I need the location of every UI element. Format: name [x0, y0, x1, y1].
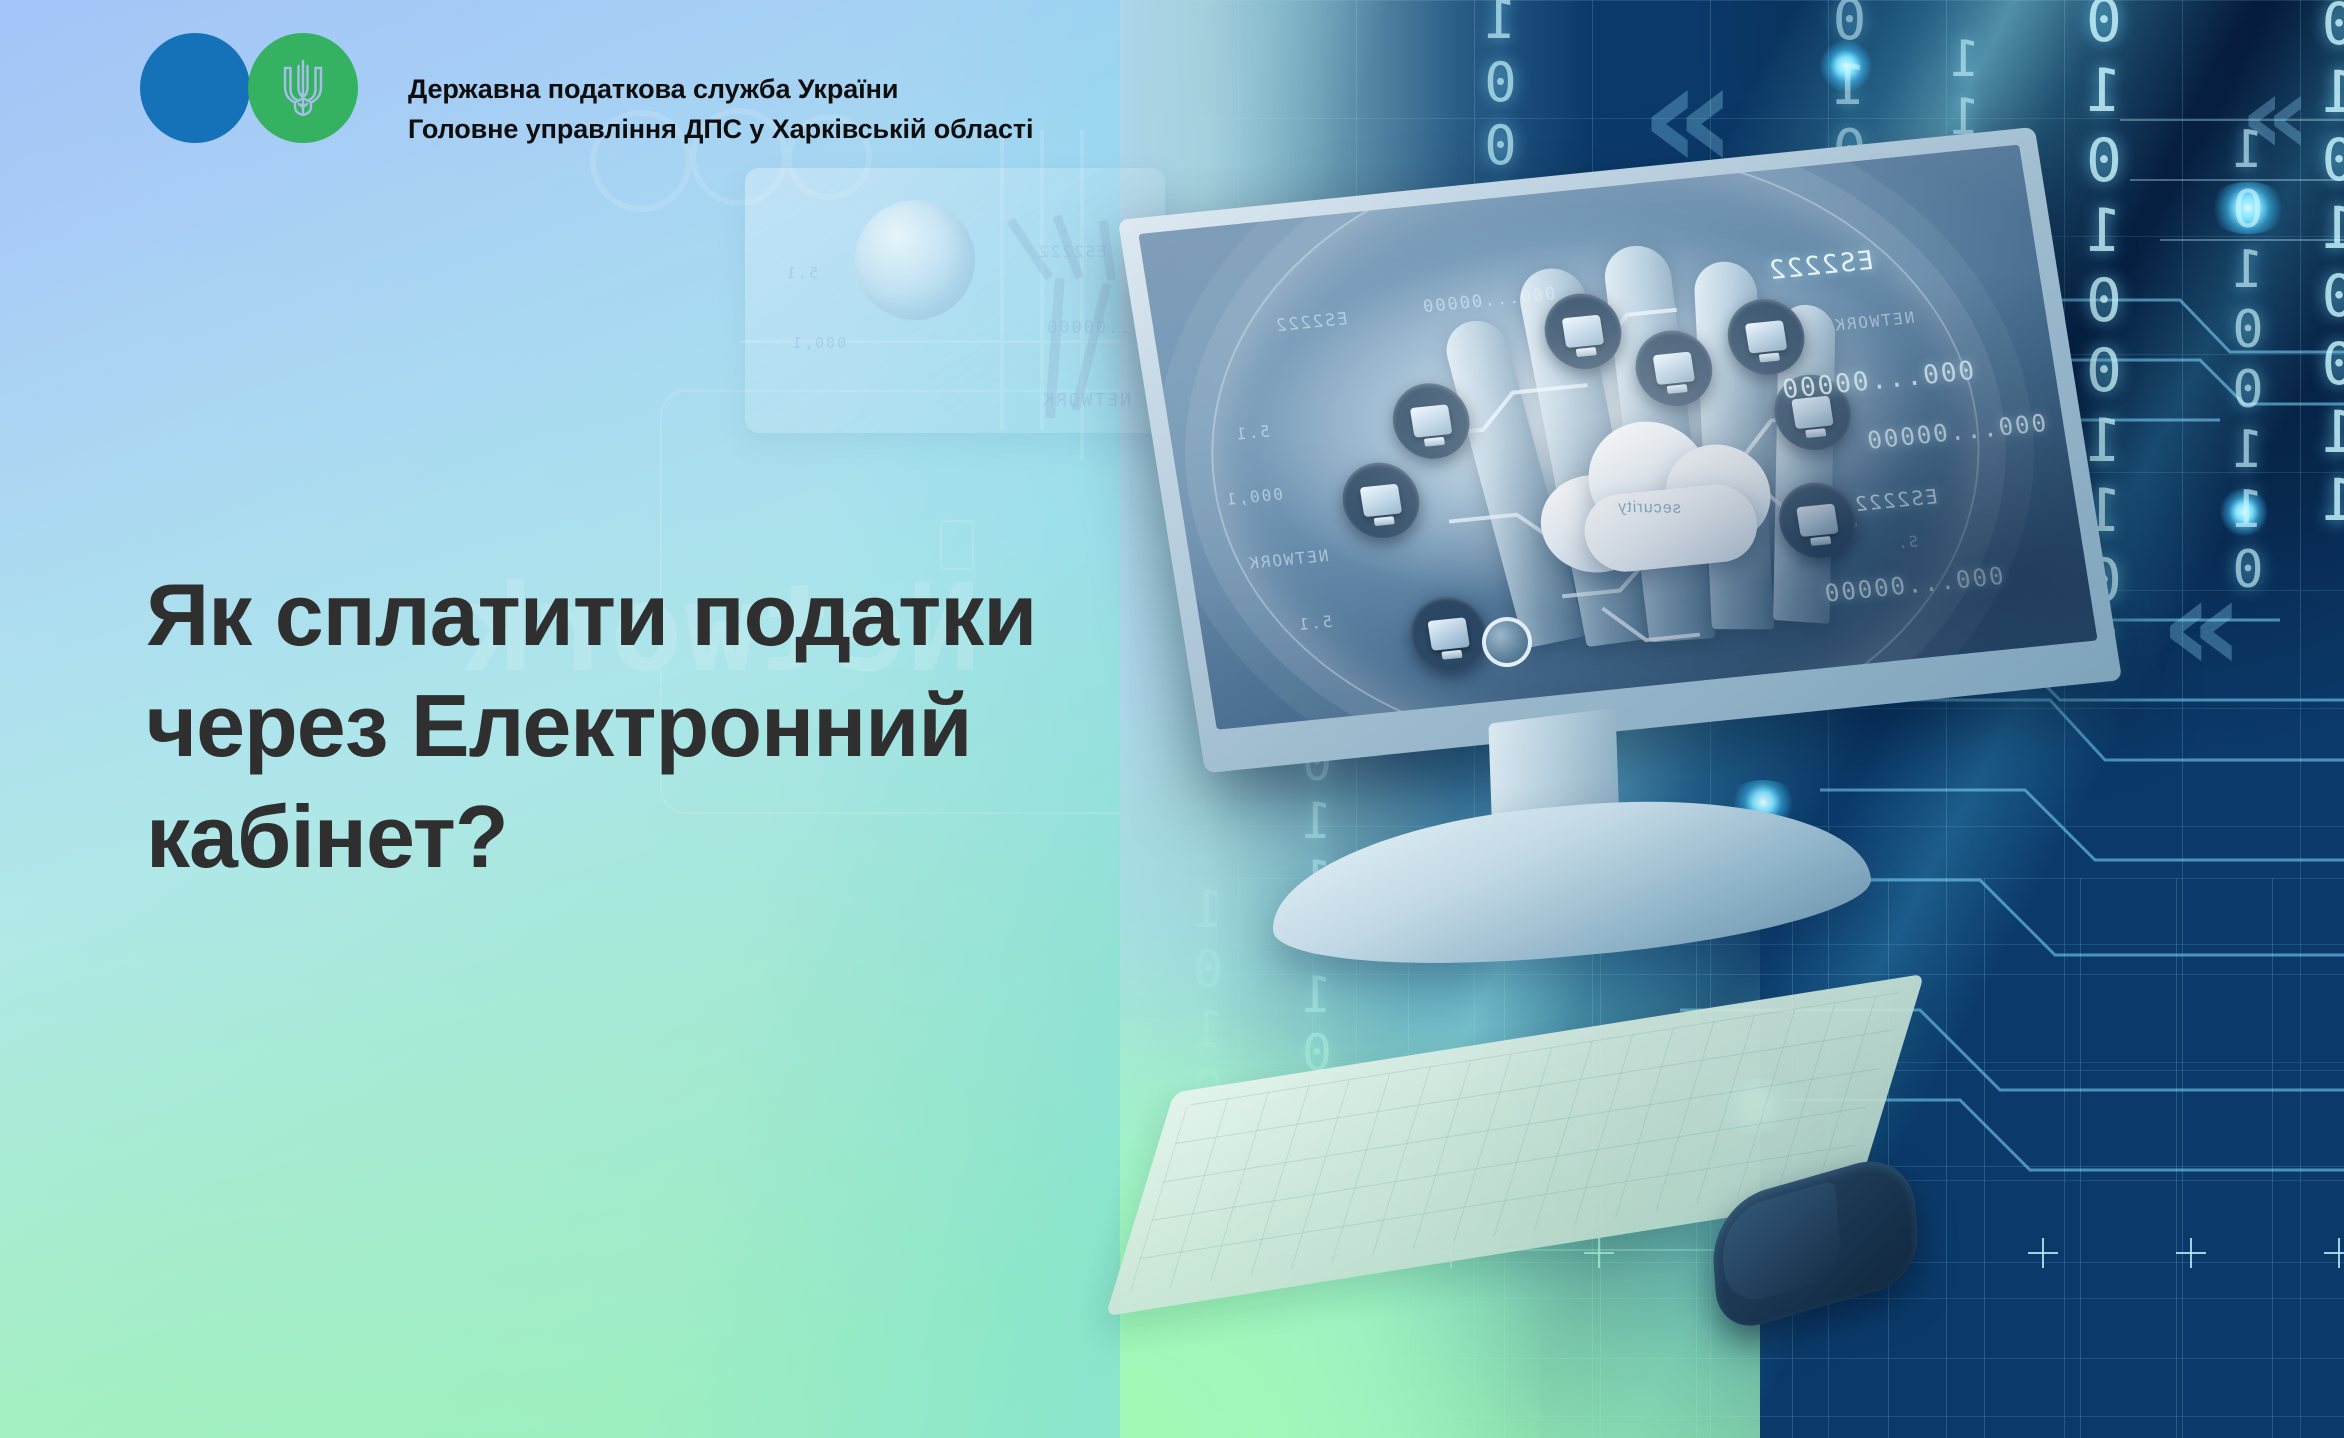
ukraine-trident-icon: [277, 57, 329, 119]
crosshair-plus-icon: [2028, 1238, 2058, 1268]
title-line-1: Як сплатити податки: [146, 560, 1156, 671]
crosshair-plus-icon: [2176, 1238, 2206, 1268]
logo-blue-circle: [140, 33, 250, 143]
binary-column: 10100110: [2220, 120, 2276, 600]
logo-green-circle: [248, 33, 358, 143]
ghost-lcd-text: NETWORK: [1041, 390, 1131, 411]
title-line-3: кабінет?: [146, 782, 1156, 893]
monitor-screen: security ES2222 NETWORK 000...00000 000.…: [1138, 145, 2097, 730]
organization-name: Державна податкова служба України Головн…: [408, 70, 1308, 150]
ghost-panel: ES2222 000...00000 NETWORK 5.1 000,1: [745, 168, 1165, 433]
agency-logo: [140, 33, 390, 145]
desktop-monitor: security ES2222 NETWORK 000...00000 000.…: [1118, 127, 2122, 773]
ghost-lcd-text: 5.1: [785, 264, 818, 282]
globe-icon: [855, 200, 975, 320]
page-title: Як сплатити податки через Електронний ка…: [146, 560, 1156, 893]
ghost-lcd-text: ES2222: [1037, 242, 1107, 261]
title-line-2: через Електронний: [146, 671, 1156, 782]
org-line-1: Державна податкова служба України: [408, 70, 1308, 110]
crosshair-plus-icon: [2324, 1238, 2344, 1268]
org-line-2: Головне управління ДПС у Харківській обл…: [408, 110, 1308, 150]
screen-vignette: [1138, 145, 2097, 730]
banner-canvas: Network: [0, 0, 2344, 1438]
ghost-lcd-text: 000,1: [791, 334, 846, 352]
binary-column: 01010011: [2308, 0, 2344, 534]
